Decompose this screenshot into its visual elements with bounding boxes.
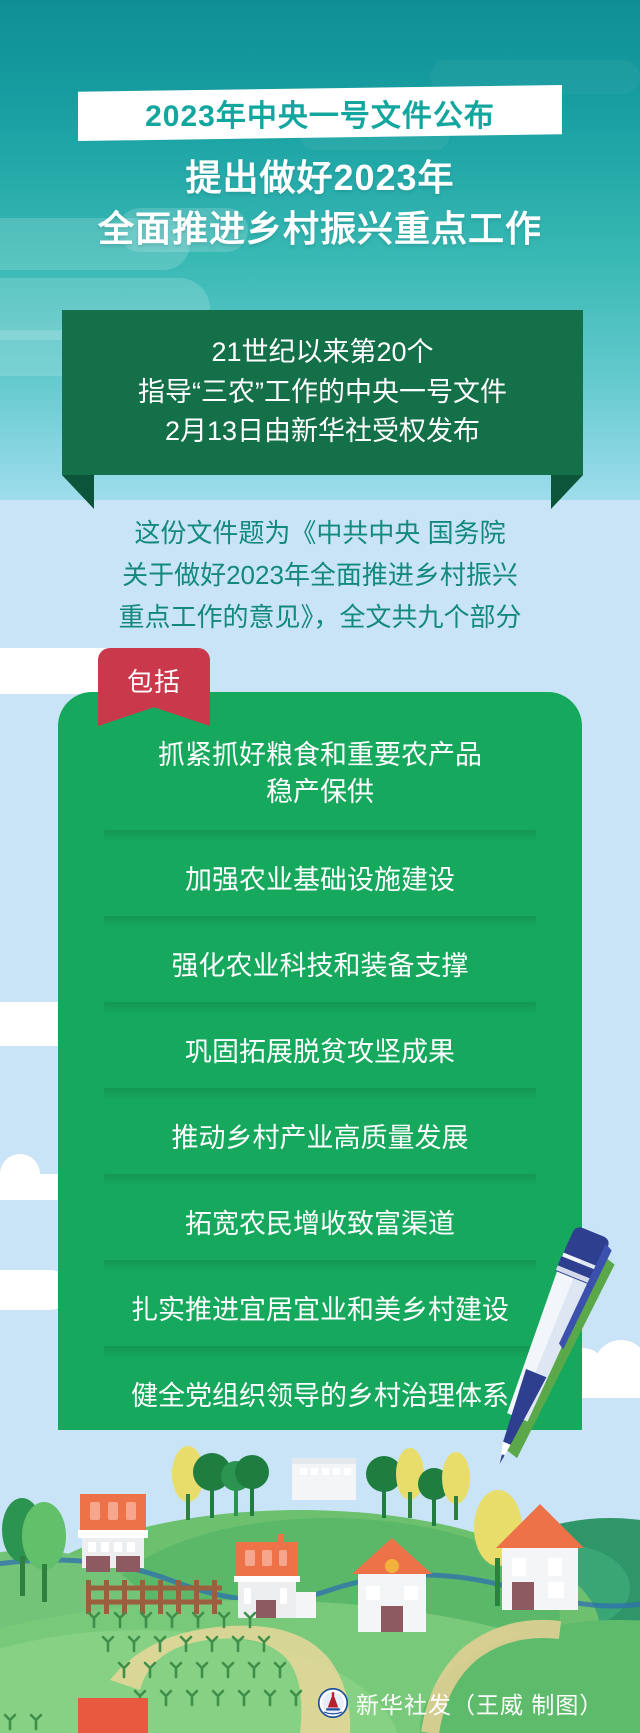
list-item-label: 巩固拓展脱贫攻坚成果 <box>58 1034 582 1071</box>
list-item: 巩固拓展脱贫攻坚成果 <box>58 1010 582 1096</box>
notice-line-1: 21世纪以来第20个 <box>211 333 433 373</box>
header-ribbon-banner: 2023年中央一号文件公布 <box>78 85 562 141</box>
notice-line-2: 指导“三农”工作的中央一号文件 <box>138 373 507 413</box>
paragraph-line-3: 重点工作的意见》，全文共九个部分 <box>0 596 640 638</box>
paragraph-line-1: 这份文件题为《中共中央 国务院 <box>0 512 640 554</box>
list-item-label: 推动乡村产业高质量发展 <box>58 1120 582 1157</box>
list-item: 抓紧抓好粮食和重要农产品稳产保供 <box>58 710 582 838</box>
credit-block: 新华社发（王威 制图） <box>318 1686 603 1720</box>
list-item-label: 加强农业基础设施建设 <box>58 862 582 899</box>
notice-box: 21世纪以来第20个 指导“三农”工作的中央一号文件 2月13日由新华社受权发布 <box>62 310 583 475</box>
header-subtitle-line1: 提出做好2023年 <box>0 152 640 203</box>
notice-line-3: 2月13日由新华社受权发布 <box>165 412 480 452</box>
infographic-poster: 2023年中央一号文件公布 提出做好2023年 全面推进乡村振兴重点工作 21世… <box>0 0 640 1733</box>
ribbon-title: 2023年中央一号文件公布 <box>145 91 495 135</box>
list-item: 推动乡村产业高质量发展 <box>58 1096 582 1182</box>
ballpoint-pen-illustration <box>486 1225 616 1475</box>
list-item-label: 强化农业科技和装备支撑 <box>58 948 582 985</box>
header-subtitle: 提出做好2023年 全面推进乡村振兴重点工作 <box>0 152 640 254</box>
list-item: 加强农业基础设施建设 <box>58 838 582 924</box>
list-item: 强化农业科技和装备支撑 <box>58 924 582 1010</box>
credit-text: 新华社发（王威 制图） <box>356 1686 603 1720</box>
xinhua-logo-icon <box>318 1688 348 1718</box>
paragraph-line-2: 关于做好2023年全面推进乡村振兴 <box>0 554 640 596</box>
header-subtitle-line2: 全面推进乡村振兴重点工作 <box>0 203 640 254</box>
includes-badge-label: 包括 <box>127 662 181 699</box>
document-title-paragraph: 这份文件题为《中共中央 国务院 关于做好2023年全面推进乡村振兴 重点工作的意… <box>0 512 640 638</box>
list-item-label: 抓紧抓好粮食和重要农产品稳产保供 <box>58 737 582 812</box>
